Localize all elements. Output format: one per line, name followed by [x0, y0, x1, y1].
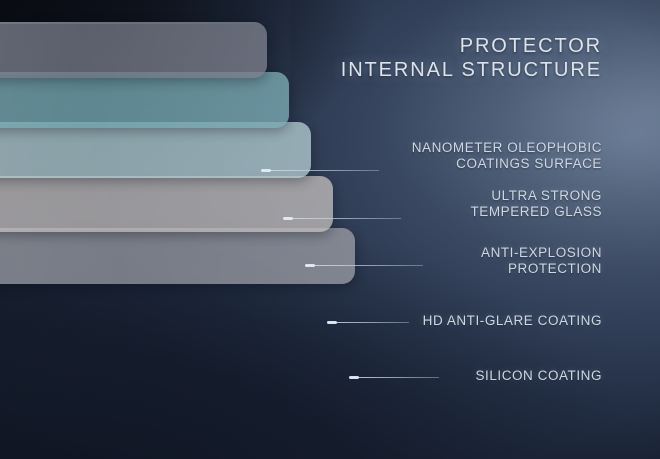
protector-structure-diagram: NANOMETER OLEOPHOBIC COATINGS SURFACEULT…: [0, 0, 660, 459]
leader-line-anti-explosion-protection: [305, 265, 423, 266]
leader-line-ultra-strong-tempered-glass: [283, 218, 401, 219]
leader-line-hd-anti-glare-coating: [327, 322, 409, 323]
layer-sheen: [0, 228, 355, 284]
label-ultra-strong-tempered-glass: ULTRA STRONG TEMPERED GLASS: [471, 188, 602, 219]
leader-line-nanometer-oleophobic-coatings-surface: [261, 170, 379, 171]
label-silicon-coating: SILICON COATING: [475, 368, 602, 384]
label-hd-anti-glare-coating: HD ANTI-GLARE COATING: [423, 313, 602, 329]
label-nanometer-oleophobic-coatings-surface: NANOMETER OLEOPHOBIC COATINGS SURFACE: [412, 140, 602, 171]
layer-top-highlight: [0, 22, 267, 24]
page-title: PROTECTOR INTERNAL STRUCTURE: [341, 34, 602, 82]
layer-ultra-strong-tempered-glass: [0, 72, 289, 128]
leader-line-silicon-coating: [349, 377, 439, 378]
layer-sheen: [0, 176, 333, 232]
layer-sheen: [0, 22, 267, 78]
layer-sheen: [0, 72, 289, 128]
layer-silicon-coating: [0, 228, 355, 284]
label-anti-explosion-protection: ANTI-EXPLOSION PROTECTION: [481, 245, 602, 276]
layer-hd-anti-glare-coating: [0, 176, 333, 232]
layer-nanometer-oleophobic-coatings-surface: [0, 22, 267, 78]
